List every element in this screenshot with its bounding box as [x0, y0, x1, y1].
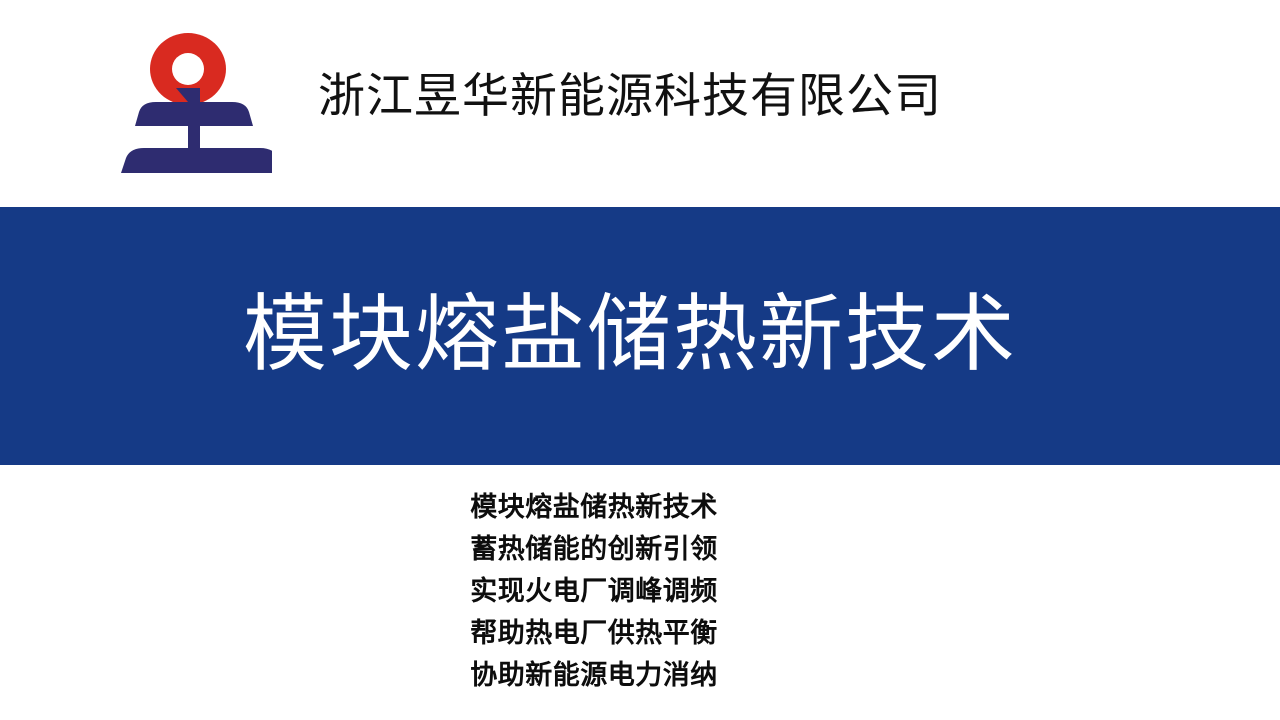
main-title: 模块熔盐储热新技术 — [0, 207, 1270, 465]
presentation-slide: 浙江昱华新能源科技有限公司 模块熔盐储热新技术 模块熔盐储热新技术 蓄热储能的创… — [0, 0, 1280, 720]
tagline-line: 蓄热储能的创新引领 — [470, 528, 718, 570]
tagline-line: 帮助热电厂供热平衡 — [470, 612, 718, 654]
yuhua-company-logo-icon — [112, 28, 272, 176]
company-name: 浙江昱华新能源科技有限公司 — [318, 74, 942, 121]
tagline-line: 协助新能源电力消纳 — [470, 654, 718, 696]
slide-header: 浙江昱华新能源科技有限公司 — [0, 0, 1280, 207]
title-banner: 模块熔盐储热新技术 — [0, 207, 1280, 465]
tagline-block: 模块熔盐储热新技术 蓄热储能的创新引领 实现火电厂调峰调频 帮助热电厂供热平衡 … — [0, 486, 1280, 696]
tagline-line: 实现火电厂调峰调频 — [470, 570, 718, 612]
tagline-line: 模块熔盐储热新技术 — [470, 486, 718, 528]
